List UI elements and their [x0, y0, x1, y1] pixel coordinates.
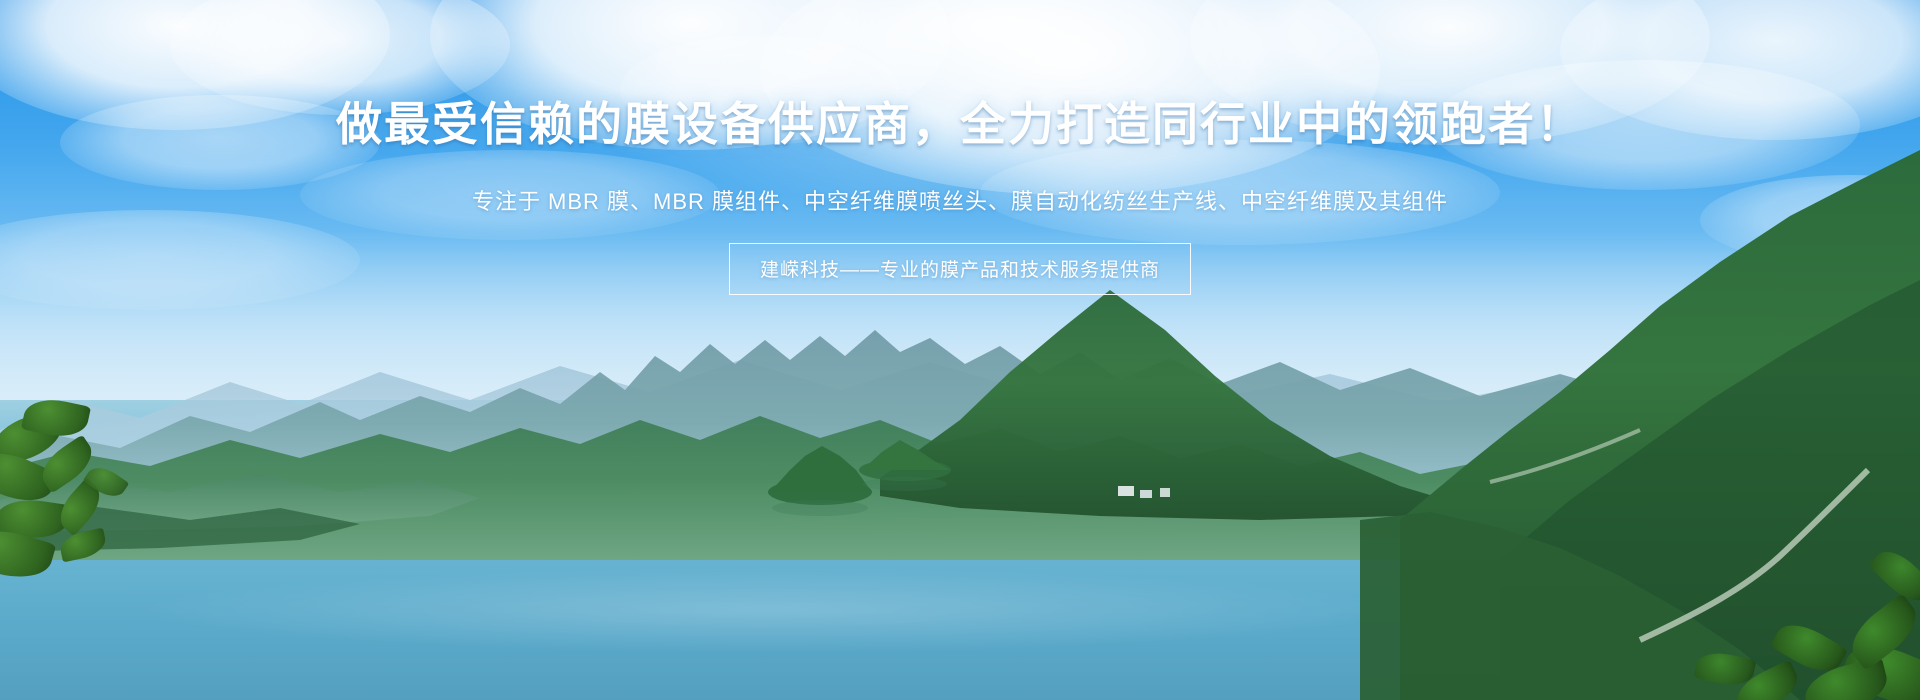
banner-headline: 做最受信赖的膜设备供应商，全力打造同行业中的领跑者！ — [0, 0, 1920, 151]
banner-text-block: 做最受信赖的膜设备供应商，全力打造同行业中的领跑者！ 专注于 MBR 膜、MBR… — [0, 0, 1920, 295]
foreground-leaves-right — [1620, 450, 1920, 700]
banner-tagline-box: 建嵘科技——专业的膜产品和技术服务提供商 — [729, 243, 1191, 295]
banner-tagline-wrapper: 建嵘科技——专业的膜产品和技术服务提供商 — [0, 216, 1920, 295]
hero-banner: 做最受信赖的膜设备供应商，全力打造同行业中的领跑者！ 专注于 MBR 膜、MBR… — [0, 0, 1920, 700]
foreground-leaves-left — [0, 400, 220, 580]
banner-subtitle: 专注于 MBR 膜、MBR 膜组件、中空纤维膜喷丝头、膜自动化纺丝生产线、中空纤… — [0, 151, 1920, 216]
